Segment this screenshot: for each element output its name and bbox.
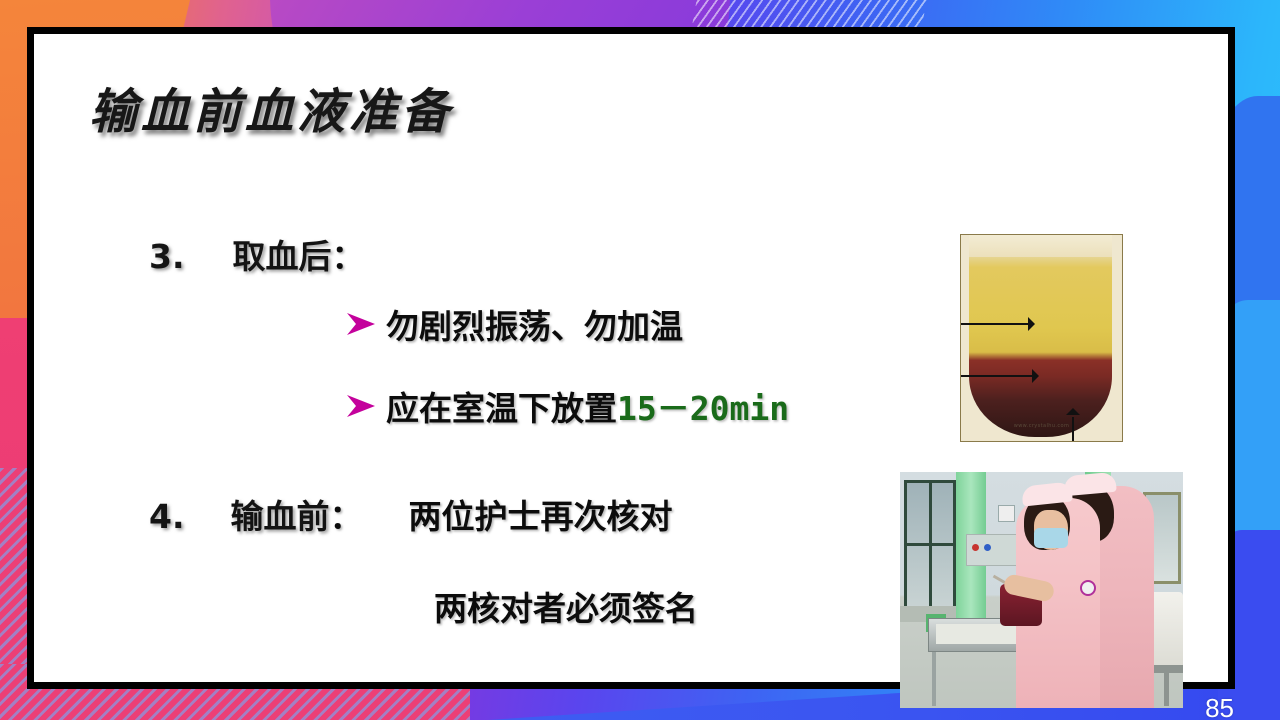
item-4-heading: 输血前	[231, 490, 330, 538]
item-4-line2: 两核对者必须签名	[434, 590, 698, 627]
blood-bag-top	[969, 235, 1112, 257]
item-4-line1: 两位护士再次核对	[409, 490, 673, 538]
page-title: 输血前血液准备	[89, 72, 453, 142]
image-watermark: www.crystalhu.com	[1014, 423, 1070, 429]
blood-bag-image: www.crystalhu.com	[960, 234, 1123, 442]
bullet-item-2: 应在室温下放置 15－20min	[344, 382, 789, 430]
nurse-front-mask	[1034, 528, 1068, 548]
list-item-4: 4. 输血前 ： 两位护士再次核对	[149, 490, 673, 538]
item-3-number: 3.	[149, 237, 185, 276]
item-3-heading: 取血后	[233, 230, 332, 278]
item-3-colon: ：	[332, 230, 365, 278]
arrow-bullet-icon	[344, 309, 378, 339]
slide-panel: 输血前血液准备 3. 取血后 ： 勿剧烈振荡、勿加温 应在室温下放置 15－20…	[27, 27, 1235, 689]
bed-leg-1	[1164, 672, 1169, 706]
wall-outlet-blue	[984, 544, 991, 551]
item-4-colon: ：	[330, 490, 363, 538]
bottom-arrow	[1072, 417, 1074, 442]
blood-bag-contents	[969, 235, 1112, 437]
arrow-bullet-icon	[344, 391, 378, 421]
wall-picture-frame	[998, 505, 1015, 522]
page-number: 85	[1205, 693, 1234, 720]
item-4-number: 4.	[149, 497, 185, 536]
wall-outlet-red	[972, 544, 979, 551]
bullet-item-1: 勿剧烈振荡、勿加温	[344, 300, 683, 348]
bullet-2-highlight: 15－20min	[617, 382, 789, 430]
red-cell-layer-arrow	[960, 375, 1037, 377]
nurses-image	[900, 472, 1183, 708]
trolley-leg-1	[932, 652, 936, 706]
item-4-line2-row: 两核对者必须签名	[434, 582, 698, 630]
plasma-layer-arrow	[960, 323, 1033, 325]
window-left	[904, 480, 956, 610]
trolley-tray	[936, 624, 1024, 644]
nurse-badge	[1080, 580, 1096, 596]
list-item-3: 3. 取血后 ：	[149, 230, 365, 278]
bullet-1-text: 勿剧烈振荡、勿加温	[386, 300, 683, 348]
bullet-2-text: 应在室温下放置	[386, 382, 617, 430]
